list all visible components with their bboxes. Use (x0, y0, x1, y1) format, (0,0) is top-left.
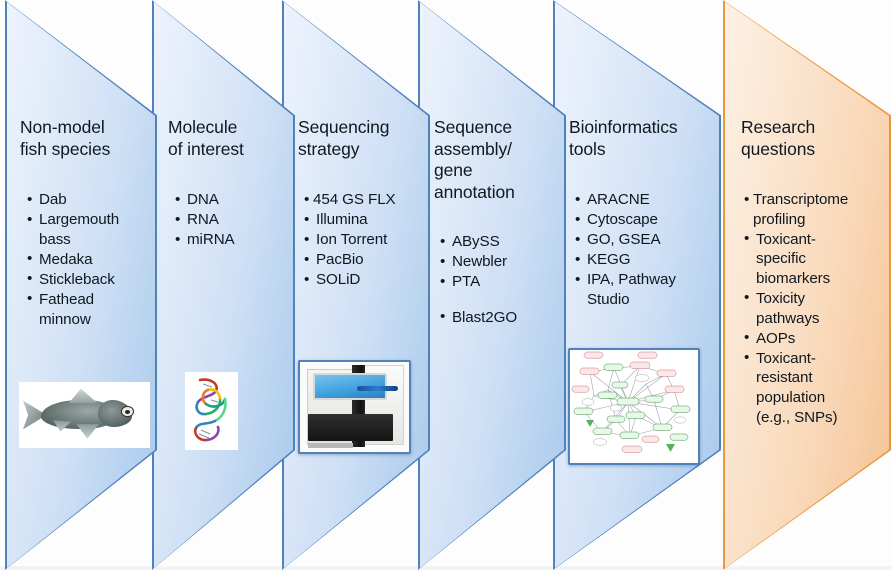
sequencer-instrument-illustration (298, 360, 411, 454)
panel-content: Sequence assembly/ gene annotation ABySS… (418, 0, 566, 570)
panel-sequencing-strategy: Sequencing strategy 454 GS FLX Illumina … (282, 0, 430, 570)
panel-content: Non-model fish species Dab Largemouth ba… (5, 0, 157, 570)
list-item: DNA (175, 190, 293, 210)
fish-pelvic-fin-shape (77, 424, 99, 439)
panel-bioinformatics-tools: Bioinformatics tools ARACNE Cytoscape GO… (553, 0, 721, 570)
panel-list: ABySS Newbler PTA Blast2GO (440, 232, 564, 328)
panel-content: Molecule of interest DNA RNA miRNA (152, 0, 295, 570)
list-item: Cytoscape (575, 210, 717, 230)
panel-content: Sequencing strategy 454 GS FLX Illumina … (282, 0, 430, 570)
list-item: KEGG (575, 250, 717, 270)
panel-list: Transcriptome profiling Toxicant- specif… (744, 190, 890, 428)
list-item: Medaka (27, 250, 151, 270)
list-item: GO, GSEA (575, 230, 717, 250)
figure-canvas: Non-model fish species Dab Largemouth ba… (0, 0, 892, 570)
fish-photo (19, 382, 150, 448)
list-item: Illumina (304, 210, 428, 230)
panel-list: 454 GS FLX Illumina Ion Torrent PacBio S… (304, 190, 428, 290)
rna-ribbon-svg (185, 372, 238, 450)
list-item: Toxicity pathways (744, 289, 890, 328)
panel-title: Non-model fish species (20, 117, 148, 160)
list-item: SOLiD (304, 270, 428, 290)
list-item: Largemouth bass (27, 210, 151, 249)
list-item: Blast2GO (440, 308, 564, 328)
list-item: ARACNE (575, 190, 717, 210)
panel-title: Sequence assembly/ gene annotation (434, 117, 562, 203)
list-item: Stickleback (27, 270, 151, 290)
list-item: RNA (175, 210, 293, 230)
panel-title: Bioinformatics tools (569, 117, 717, 160)
list-item: Fathead minnow (27, 290, 151, 329)
panel-title: Molecule of interest (168, 117, 292, 160)
list-item: Toxicant- specific biomarkers (744, 230, 890, 289)
panel-molecule-of-interest: Molecule of interest DNA RNA miRNA (152, 0, 295, 570)
list-item: AOPs (744, 329, 890, 349)
panel-list: DNA RNA miRNA (175, 190, 293, 250)
list-item: Dab (27, 190, 151, 210)
list-item: PacBio (304, 250, 428, 270)
list-item: Toxicant- resistant population (e.g., SN… (744, 349, 890, 427)
panel-title: Sequencing strategy (298, 117, 426, 160)
sequencer-drawer (308, 414, 393, 441)
fish-dorsal-fin-shape (69, 389, 98, 404)
panel-sequence-assembly-gene-annotation: Sequence assembly/ gene annotation ABySS… (418, 0, 566, 570)
list-item: Newbler (440, 252, 564, 272)
gene-network-diagram (568, 348, 700, 465)
panel-content: Bioinformatics tools ARACNE Cytoscape GO… (553, 0, 721, 570)
panel-non-model-fish-species: Non-model fish species Dab Largemouth ba… (5, 0, 157, 570)
list-item: Ion Torrent (304, 230, 428, 250)
gene-network-svg (570, 350, 694, 459)
sequencer-base (308, 443, 354, 448)
list-item: miRNA (175, 230, 293, 250)
panel-list: Dab Largemouth bass Medaka Stickleback F… (27, 190, 151, 330)
panel-content: Research questions Transcriptome profili… (723, 0, 891, 570)
rna-structure-illustration (185, 372, 238, 450)
list-item: PTA (440, 272, 564, 292)
panel-research-questions: Research questions Transcriptome profili… (723, 0, 891, 570)
list-item: Transcriptome profiling (744, 190, 890, 229)
list-item: ABySS (440, 232, 564, 252)
sequencer-handle-bar (357, 386, 398, 391)
panel-title: Research questions (741, 117, 885, 160)
fish-eye-shape (121, 406, 133, 417)
panel-list: ARACNE Cytoscape GO, GSEA KEGG IPA, Path… (575, 190, 717, 310)
list-item: IPA, Pathway Studio (575, 270, 717, 309)
list-item: 454 GS FLX (304, 190, 428, 210)
